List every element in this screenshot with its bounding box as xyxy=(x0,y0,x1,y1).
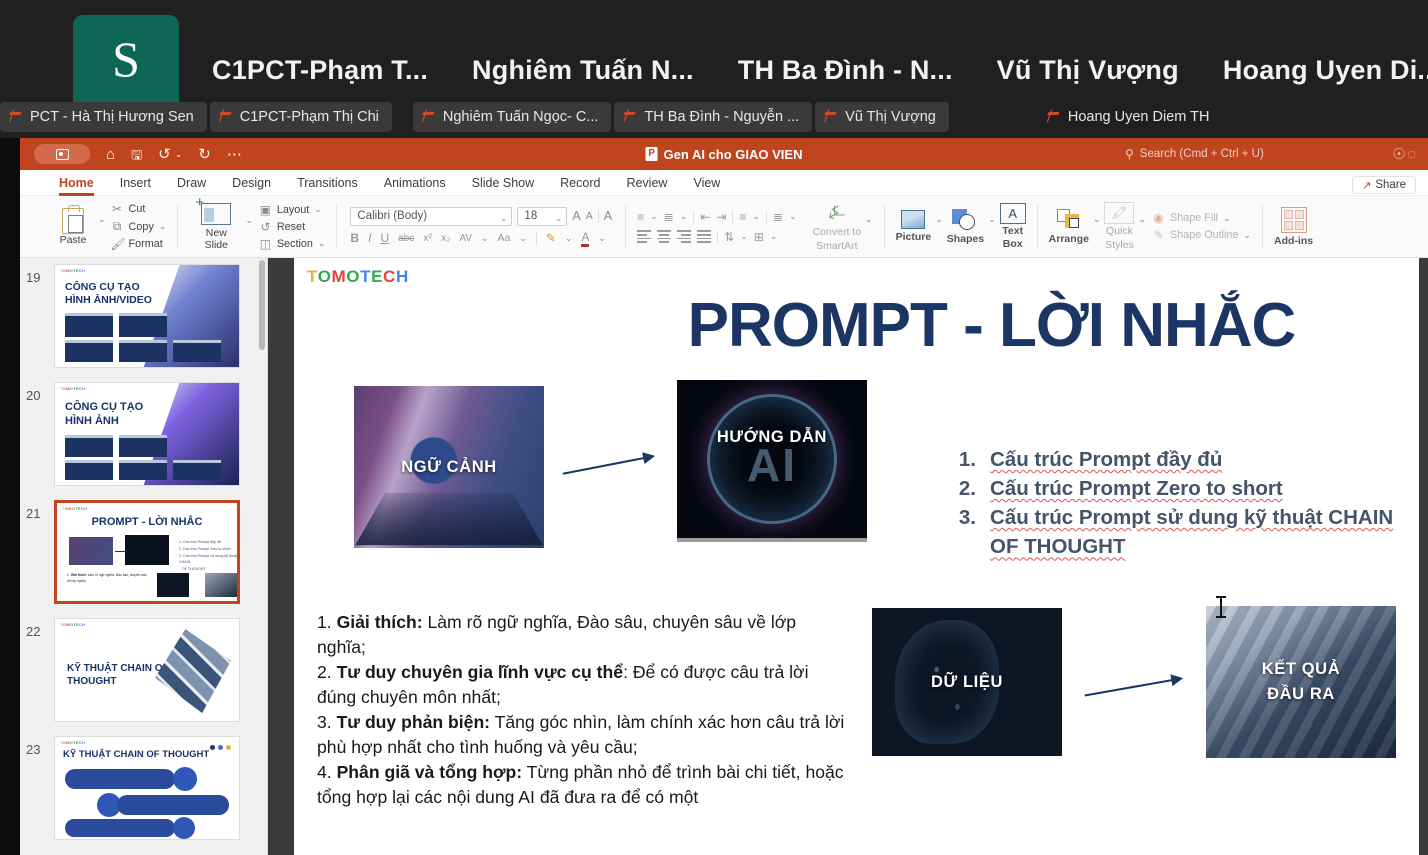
powerpoint-file-icon xyxy=(646,147,658,161)
image-guide[interactable]: HƯỚNG DẪN xyxy=(677,380,867,542)
cut-button[interactable]: ✂ Cut xyxy=(111,202,167,216)
thumb-title-20-l2: HÌNH ẢNH xyxy=(65,415,119,427)
align-text-caret-icon[interactable]: ⌄ xyxy=(770,231,778,242)
ordered-list-item-1: 1. Cấu trúc Prompt đầy đủ xyxy=(954,445,1394,474)
slide-number-19: 19 xyxy=(26,270,40,285)
ribbon-group-font: Calibri (Body) ⌄ 18 ⌄ A A A B I U abc x²… xyxy=(340,196,622,257)
arrow-data-to-result xyxy=(1085,678,1182,697)
undo-caret-icon[interactable]: ⌄ xyxy=(175,150,183,159)
grow-font-button[interactable]: A xyxy=(572,209,580,223)
taskbar-item-5[interactable]: Vũ Thị Vượng xyxy=(815,102,949,132)
arrange-button[interactable]: Arrange xyxy=(1049,209,1089,245)
powerpoint-icon xyxy=(1046,109,1061,126)
taskbar-item-2[interactable]: C1PCT-Phạm Thị Chi xyxy=(210,102,392,132)
tab-view[interactable]: View xyxy=(680,170,733,196)
ordered-list-text-3: Cấu trúc Prompt sử dung kỹ thuật CHAIN O… xyxy=(990,503,1394,561)
thumb-logo: TOMOTECH xyxy=(60,740,85,745)
decrease-indent-button[interactable]: ⇤ xyxy=(700,210,710,224)
body-bold-3: Tư duy phản biện: xyxy=(337,712,490,732)
highlight-caret-icon[interactable]: ⌄ xyxy=(565,233,573,244)
font-size-input[interactable]: 18 ⌄ xyxy=(517,207,567,226)
powerpoint-icon xyxy=(421,109,436,126)
smartart-caret-icon[interactable]: ⌄ xyxy=(865,214,873,225)
font-color-button[interactable]: A xyxy=(581,230,589,247)
document-title: Gen AI cho GIAO VIEN xyxy=(646,147,803,162)
arrange-label: Arrange xyxy=(1049,233,1089,245)
clipboard-icon xyxy=(62,208,84,234)
ribbon-group-insert: Picture ⌄ Shapes ⌄ A Text Box xyxy=(888,196,1034,257)
slide-thumbnail-23[interactable]: 23 TOMOTECH KỸ THUẬT CHAIN OF THOUGHT xyxy=(20,730,267,848)
ordered-list-num-2: 2. xyxy=(954,474,976,503)
powerpoint-icon xyxy=(823,109,838,126)
ribbon-toolbar: Paste ⌄ ✂ Cut ⧉ Copy ⌄ 🖌 Format xyxy=(20,196,1428,258)
text-highlight-button[interactable]: ✎ xyxy=(546,231,556,245)
powerpoint-window: ⌂ 🖫 ↺ ⌄ ↻ ⋯ Gen AI cho GIAO VIEN ⚲ Searc… xyxy=(20,138,1428,855)
app-icon-letter: S xyxy=(112,34,140,84)
font-color-caret-icon[interactable]: ⌄ xyxy=(598,233,606,244)
text-box-button[interactable]: A Text Box xyxy=(1000,203,1026,250)
picture-caret-icon[interactable]: ⌄ xyxy=(935,214,943,225)
thumb-title-19-l2: HÌNH ẢNH/VIDEO xyxy=(65,294,152,306)
shapes-label: Shapes xyxy=(947,233,984,245)
convert-to-smartart-button[interactable]: ⍼ Convert to SmartArt xyxy=(813,202,861,252)
image-result[interactable]: KẾT QUẢ ĐẦU RA xyxy=(1206,606,1396,758)
add-ins-button[interactable]: Add-ins xyxy=(1274,207,1313,247)
thumb-title-22-l2: THOUGHT xyxy=(67,676,116,687)
new-slide-icon xyxy=(201,203,231,225)
justify-button[interactable] xyxy=(697,230,711,242)
thumb-logo: TOMOTECH xyxy=(60,386,85,391)
ribbon-divider xyxy=(336,204,337,249)
reset-icon: ↺ xyxy=(259,220,272,234)
quick-styles-label-2: Styles xyxy=(1105,240,1134,251)
line-spacing-button[interactable]: ≡ xyxy=(739,210,746,224)
arrange-icon xyxy=(1057,209,1081,231)
body-num-4: 4. xyxy=(317,762,337,782)
new-slide-label-1: New xyxy=(206,227,227,239)
clear-formatting-button[interactable]: A xyxy=(604,209,612,223)
text-box-label-1: Text xyxy=(1002,226,1023,237)
shape-fill-button[interactable]: ◉ Shape Fill ⌄ xyxy=(1152,211,1251,225)
powerpoint-icon xyxy=(8,109,23,126)
shape-outline-button[interactable]: ✎ Shape Outline ⌄ xyxy=(1152,228,1251,242)
section-label: Section xyxy=(277,238,313,250)
logo-t1: T xyxy=(307,267,318,286)
layout-icon: ▣ xyxy=(259,203,272,217)
shrink-font-button[interactable]: A xyxy=(586,210,593,222)
character-spacing-button[interactable]: AV xyxy=(459,233,472,244)
logo-h: H xyxy=(396,267,409,286)
section-caret-icon[interactable]: ⌄ xyxy=(318,238,326,249)
picture-icon xyxy=(901,210,925,229)
thumb-logo: TOMOTECH xyxy=(62,506,87,511)
body-paragraph-1: 1. Giải thích: Làm rõ ngữ nghĩa, Đào sâu… xyxy=(317,610,847,660)
ribbon-divider xyxy=(884,204,885,249)
subscript-button[interactable]: x₂ xyxy=(441,232,450,244)
taskbar-item-6-label: Hoang Uyen Diem TH xyxy=(1068,109,1210,125)
slide-canvas[interactable]: TOMOTECH PROMPT - LỜI NHẮC NGỮ CẢNH HƯỚN… xyxy=(294,258,1419,855)
columns-button[interactable]: ≣ xyxy=(773,210,783,224)
body-paragraph-2: 2. Tư duy chuyên gia lĩnh vực cụ thể: Để… xyxy=(317,660,847,710)
body-num-1: 1. xyxy=(317,612,337,632)
scissors-icon: ✂ xyxy=(111,202,124,216)
search-icon: ⚲ xyxy=(1125,147,1134,161)
redo-icon[interactable]: ↻ xyxy=(198,147,211,162)
font-family-input[interactable]: Calibri (Body) ⌄ xyxy=(350,207,512,226)
layout-button[interactable]: ▣ Layout ⌄ xyxy=(259,203,326,217)
window-title-4[interactable]: Vũ Thị Vượng xyxy=(975,55,1201,86)
share-icon: ↗ xyxy=(1362,179,1371,192)
slide-body-text[interactable]: 1. Giải thích: Làm rõ ngữ nghĩa, Đào sâu… xyxy=(317,610,847,810)
shapes-button[interactable]: Shapes xyxy=(947,209,984,245)
arrange-caret-icon[interactable]: ⌄ xyxy=(1093,214,1101,225)
section-button[interactable]: ◫ Section ⌄ xyxy=(259,237,326,251)
cut-label: Cut xyxy=(129,203,146,215)
slide-number-23: 23 xyxy=(26,742,40,757)
image-context[interactable]: NGỮ CẢNH xyxy=(354,386,544,548)
taskbar-item-2-label: C1PCT-Phạm Thị Chi xyxy=(240,109,379,125)
text-direction-caret-icon[interactable]: ⌄ xyxy=(740,231,748,242)
os-taskbar: S C1PCT-Phạm T... Nghiêm Tuấn N... TH Ba… xyxy=(0,0,1428,138)
thumb-title-22-l1: KỸ THUẬT CHAIN OF xyxy=(67,663,169,674)
powerpoint-icon xyxy=(218,109,233,126)
thumb-title-23: KỸ THUẬT CHAIN OF THOUGHT xyxy=(63,749,209,760)
image-data-caption: DỮ LIỆU xyxy=(931,670,1003,695)
slide-thumbnail-19[interactable]: 19 TOMOTECH CÔNG CỤ TẠO HÌNH ẢNH/VIDEO xyxy=(20,258,267,376)
copy-label: Copy xyxy=(129,221,154,233)
ribbon-group-paragraph: ≡ ⌄ ≣ ⌄ ⇤ ⇥ ≡ ⌄ ≣ ⌄ ⇅ ⌄ xyxy=(629,196,804,257)
logo-c: C xyxy=(383,267,396,286)
search-placeholder: Search (Cmd + Ctrl + U) xyxy=(1140,148,1264,160)
align-text-button[interactable]: ⊞ xyxy=(754,230,764,244)
slide-logo: TOMOTECH xyxy=(307,267,409,287)
align-center-button[interactable] xyxy=(657,230,671,242)
new-slide-button[interactable]: New Slide xyxy=(189,203,243,251)
paste-button[interactable]: Paste xyxy=(50,208,96,246)
tab-home[interactable]: Home xyxy=(46,170,107,196)
smartart-label-2: SmartArt xyxy=(816,240,857,252)
strikethrough-button[interactable]: abc xyxy=(398,233,414,244)
tab-insert[interactable]: Insert xyxy=(107,170,164,196)
add-ins-label: Add-ins xyxy=(1274,235,1313,247)
tab-transitions[interactable]: Transitions xyxy=(284,170,371,196)
superscript-button[interactable]: x² xyxy=(423,232,432,244)
logo-m: M xyxy=(332,267,347,286)
ribbon-group-slides: New Slide ⌄ ▣ Layout ⌄ ↺ Reset ◫ Section… xyxy=(181,196,333,257)
tab-record[interactable]: Record xyxy=(547,170,613,196)
slide-canvas-area[interactable]: TOMOTECH PROMPT - LỜI NHẮC NGỮ CẢNH HƯỚN… xyxy=(268,258,1428,855)
tab-review[interactable]: Review xyxy=(613,170,680,196)
columns-caret-icon[interactable]: ⌄ xyxy=(789,211,797,222)
tab-animations[interactable]: Animations xyxy=(371,170,459,196)
share-button[interactable]: ↗ Share xyxy=(1352,176,1416,194)
character-spacing-caret-icon[interactable]: ⌄ xyxy=(481,233,489,244)
quick-styles-button[interactable]: 🖍 Quick Styles xyxy=(1104,202,1134,250)
slide-number-21: 21 xyxy=(26,506,40,521)
taskbar-item-3[interactable]: Nghiêm Tuấn Ngọc- C... xyxy=(413,102,612,132)
share-label: Share xyxy=(1375,179,1406,191)
thumb-logo: TOMOTECH xyxy=(60,622,85,627)
outline-pen-icon: ✎ xyxy=(1152,228,1165,242)
ribbon-group-drawing: Arrange ⌄ 🖍 Quick Styles ⌄ ◉ Shape Fill … xyxy=(1041,196,1259,257)
copy-icon: ⧉ xyxy=(111,219,124,234)
document-title-text: Gen AI cho GIAO VIEN xyxy=(664,147,803,162)
layout-caret-icon[interactable]: ⌄ xyxy=(314,204,322,215)
ribbon-tab-bar: Home Insert Draw Design Transitions Anim… xyxy=(20,170,1428,196)
slide-ordered-list[interactable]: 1. Cấu trúc Prompt đầy đủ 2. Cấu trúc Pr… xyxy=(954,445,1394,561)
thumbnail-scrollbar[interactable] xyxy=(259,260,265,350)
ordered-list-item-3: 3. Cấu trúc Prompt sử dung kỹ thuật CHAI… xyxy=(954,503,1394,561)
paste-label: Paste xyxy=(60,234,87,246)
align-right-button[interactable] xyxy=(677,230,691,242)
shape-fill-caret-icon[interactable]: ⌄ xyxy=(1223,213,1231,224)
window-title-2[interactable]: Nghiêm Tuấn N... xyxy=(450,55,716,86)
italic-button[interactable]: I xyxy=(368,231,371,245)
shape-outline-caret-icon[interactable]: ⌄ xyxy=(1243,230,1251,241)
smartart-label-1: Convert to xyxy=(813,226,861,238)
quick-styles-icon: 🖍 xyxy=(1104,202,1134,224)
more-commands-icon[interactable]: ⋯ xyxy=(227,147,242,162)
font-family-caret-icon[interactable]: ⌄ xyxy=(500,210,508,227)
body-paragraph-4: 4. Phân giã và tổng hợp: Từng phần nhỏ đ… xyxy=(317,760,847,810)
window-title-5[interactable]: Hoang Uyen Di... xyxy=(1201,55,1428,86)
shapes-caret-icon[interactable]: ⌄ xyxy=(988,214,996,225)
tab-slide-show[interactable]: Slide Show xyxy=(459,170,548,196)
image-guide-caption: HƯỚNG DẪN xyxy=(717,425,827,450)
add-ins-icon xyxy=(1281,207,1307,233)
ribbon-divider xyxy=(177,204,178,249)
image-result-caption-1: KẾT QUẢ xyxy=(1262,657,1340,682)
home-icon[interactable]: ⌂ xyxy=(106,147,115,162)
save-icon[interactable]: 🖫 xyxy=(131,148,142,161)
body-bold-4: Phân giã và tổng hợp: xyxy=(337,762,523,782)
change-case-button[interactable]: Aa xyxy=(497,232,510,244)
ordered-list-text-1: Cấu trúc Prompt đầy đủ xyxy=(990,445,1222,474)
body-num-3: 3. xyxy=(317,712,337,732)
shape-fill-label: Shape Fill xyxy=(1170,212,1218,224)
align-left-button[interactable] xyxy=(637,230,651,242)
smartart-icon: ⍼ xyxy=(829,202,846,224)
taskbar-window-buttons: PCT - Hà Thị Hương Sen C1PCT-Phạm Thị Ch… xyxy=(0,100,1225,134)
text-box-label-2: Box xyxy=(1003,239,1023,250)
window-title-1[interactable]: C1PCT-Phạm T... xyxy=(190,55,450,86)
font-family-value: Calibri (Body) xyxy=(357,210,427,222)
taskbar-item-5-label: Vũ Thị Vượng xyxy=(845,109,936,125)
image-data[interactable]: DỮ LIỆU xyxy=(872,608,1062,756)
slide-number-20: 20 xyxy=(26,388,40,403)
image-context-caption: NGỮ CẢNH xyxy=(401,455,497,480)
underline-button[interactable]: U xyxy=(380,231,389,245)
ordered-list-text-2: Cấu trúc Prompt Zero to short xyxy=(990,474,1283,503)
thumb-title-21: PROMPT - LỜI NHẮC xyxy=(57,516,237,528)
taskbar-item-4-label: TH Ba Đình - Nguyễn ... xyxy=(644,109,799,125)
change-case-caret-icon[interactable]: ⌄ xyxy=(519,233,527,244)
body-bold-2: Tư duy chuyên gia lĩnh vực cụ thể xyxy=(337,662,624,682)
shape-outline-label: Shape Outline xyxy=(1170,229,1238,241)
window-title-3[interactable]: TH Ba Đình - N... xyxy=(716,55,975,86)
font-size-caret-icon[interactable]: ⌄ xyxy=(555,210,563,227)
text-cursor xyxy=(1216,596,1226,618)
picture-label: Picture xyxy=(896,231,932,243)
shapes-icon xyxy=(952,209,978,231)
taskbar-item-4[interactable]: TH Ba Đình - Nguyễn ... xyxy=(614,102,812,132)
new-slide-caret-icon[interactable]: ⌄ xyxy=(245,215,253,226)
powerpoint-titlebar: ⌂ 🖫 ↺ ⌄ ↻ ⋯ Gen AI cho GIAO VIEN ⚲ Searc… xyxy=(20,138,1428,170)
slide-thumbnail-21[interactable]: 21 TOMOTECH PROMPT - LỜI NHẮC 1. Cấu trú… xyxy=(20,494,267,612)
quick-styles-label-1: Quick xyxy=(1106,226,1133,237)
app-icon-skype[interactable]: S xyxy=(73,15,179,103)
slide-thumbnail-22[interactable]: 22 TOMOTECH KỸ THUẬT CHAIN OF THOUGHT xyxy=(20,612,267,730)
slide-thumbnail-20[interactable]: 20 TOMOTECH CÔNG CỤ TẠO HÌNH ẢNH xyxy=(20,376,267,494)
line-spacing-caret-icon[interactable]: ⌄ xyxy=(752,211,760,222)
format-painter-button[interactable]: 🖌 Format xyxy=(111,237,167,251)
paste-caret-icon[interactable]: ⌄ xyxy=(98,214,106,225)
powerpoint-icon xyxy=(622,109,637,126)
format-label: Format xyxy=(129,238,163,250)
ordered-list-item-2: 2. Cấu trúc Prompt Zero to short xyxy=(954,474,1394,503)
text-direction-button[interactable]: ⇅ xyxy=(724,230,734,244)
section-icon: ◫ xyxy=(259,237,272,251)
body-paragraph-3: 3. Tư duy phản biện: Tăng góc nhìn, làm … xyxy=(317,710,847,760)
reset-label: Reset xyxy=(277,221,305,233)
quick-styles-caret-icon[interactable]: ⌄ xyxy=(1138,214,1146,225)
bold-button[interactable]: B xyxy=(350,231,359,245)
logo-t2: T xyxy=(360,267,371,286)
text-box-icon: A xyxy=(1000,203,1026,224)
taskbar-item-6[interactable]: Hoang Uyen Diem TH xyxy=(1038,102,1223,132)
bullets-button[interactable]: ≡ xyxy=(637,210,644,224)
new-slide-label-2: Slide xyxy=(205,239,228,251)
search-input[interactable]: ⚲ Search (Cmd + Ctrl + U) xyxy=(1125,144,1355,164)
logo-e: E xyxy=(371,267,383,286)
slide-number-22: 22 xyxy=(26,624,40,639)
increase-indent-button[interactable]: ⇥ xyxy=(716,210,726,224)
taskbar-item-1-label: PCT - Hà Thị Hương Sen xyxy=(30,109,194,125)
ordered-list-num-1: 1. xyxy=(954,445,976,474)
arrow-context-to-guide xyxy=(563,455,654,475)
ribbon-group-smartart: ⍼ Convert to SmartArt ⌄ xyxy=(805,196,881,257)
tab-design[interactable]: Design xyxy=(219,170,284,196)
tab-draw[interactable]: Draw xyxy=(164,170,219,196)
body-bold-1: Giải thích: xyxy=(337,612,423,632)
copy-button[interactable]: ⧉ Copy ⌄ xyxy=(111,219,167,234)
ribbon-group-addins: Add-ins xyxy=(1266,196,1321,257)
body-num-2: 2. xyxy=(317,662,337,682)
undo-icon[interactable]: ↺ xyxy=(158,147,171,162)
slide-title[interactable]: PROMPT - LỜI NHẮC xyxy=(294,290,1419,361)
ribbon-group-clipboard: Paste ⌄ ✂ Cut ⧉ Copy ⌄ 🖌 Format xyxy=(42,196,174,257)
paintbrush-icon: 🖌 xyxy=(111,237,124,251)
taskbar-item-1[interactable]: PCT - Hà Thị Hương Sen xyxy=(0,102,207,132)
window-title-strip: C1PCT-Phạm T... Nghiêm Tuấn N... TH Ba Đ… xyxy=(190,44,1428,96)
thumb-title-20-l1: CÔNG CỤ TẠO xyxy=(65,401,143,413)
fill-bucket-icon: ◉ xyxy=(1152,211,1165,225)
logo-o2: O xyxy=(346,267,360,286)
thumb-logo: TOMOTECH xyxy=(60,268,85,273)
numbering-caret-icon[interactable]: ⌄ xyxy=(680,211,688,222)
logo-o1: O xyxy=(318,267,332,286)
ribbon-divider xyxy=(625,204,626,249)
ribbon-divider xyxy=(1037,204,1038,249)
taskbar-item-3-label: Nghiêm Tuấn Ngọc- C... xyxy=(443,109,599,125)
font-size-value: 18 xyxy=(524,210,537,222)
ribbon-divider xyxy=(1262,204,1263,249)
copy-caret-icon[interactable]: ⌄ xyxy=(159,221,167,232)
slide-thumbnail-pane[interactable]: 19 TOMOTECH CÔNG CỤ TẠO HÌNH ẢNH/VIDEO 2… xyxy=(20,258,268,855)
editor-main-area: 19 TOMOTECH CÔNG CỤ TẠO HÌNH ẢNH/VIDEO 2… xyxy=(20,258,1428,855)
bullets-caret-icon[interactable]: ⌄ xyxy=(650,211,658,222)
reset-button[interactable]: ↺ Reset xyxy=(259,220,326,234)
image-result-caption-2: ĐẦU RA xyxy=(1267,682,1335,707)
picture-button[interactable]: Picture xyxy=(896,210,932,243)
ordered-list-num-3: 3. xyxy=(954,503,976,561)
collaborators-icon[interactable]: ☉ ◌ xyxy=(1392,145,1416,163)
layout-label: Layout xyxy=(277,204,309,216)
numbering-button[interactable]: ≣ xyxy=(664,210,674,224)
thumb-title-19-l1: CÔNG CỤ TẠO xyxy=(65,281,140,294)
account-icon xyxy=(56,149,69,160)
account-button[interactable] xyxy=(34,144,90,164)
